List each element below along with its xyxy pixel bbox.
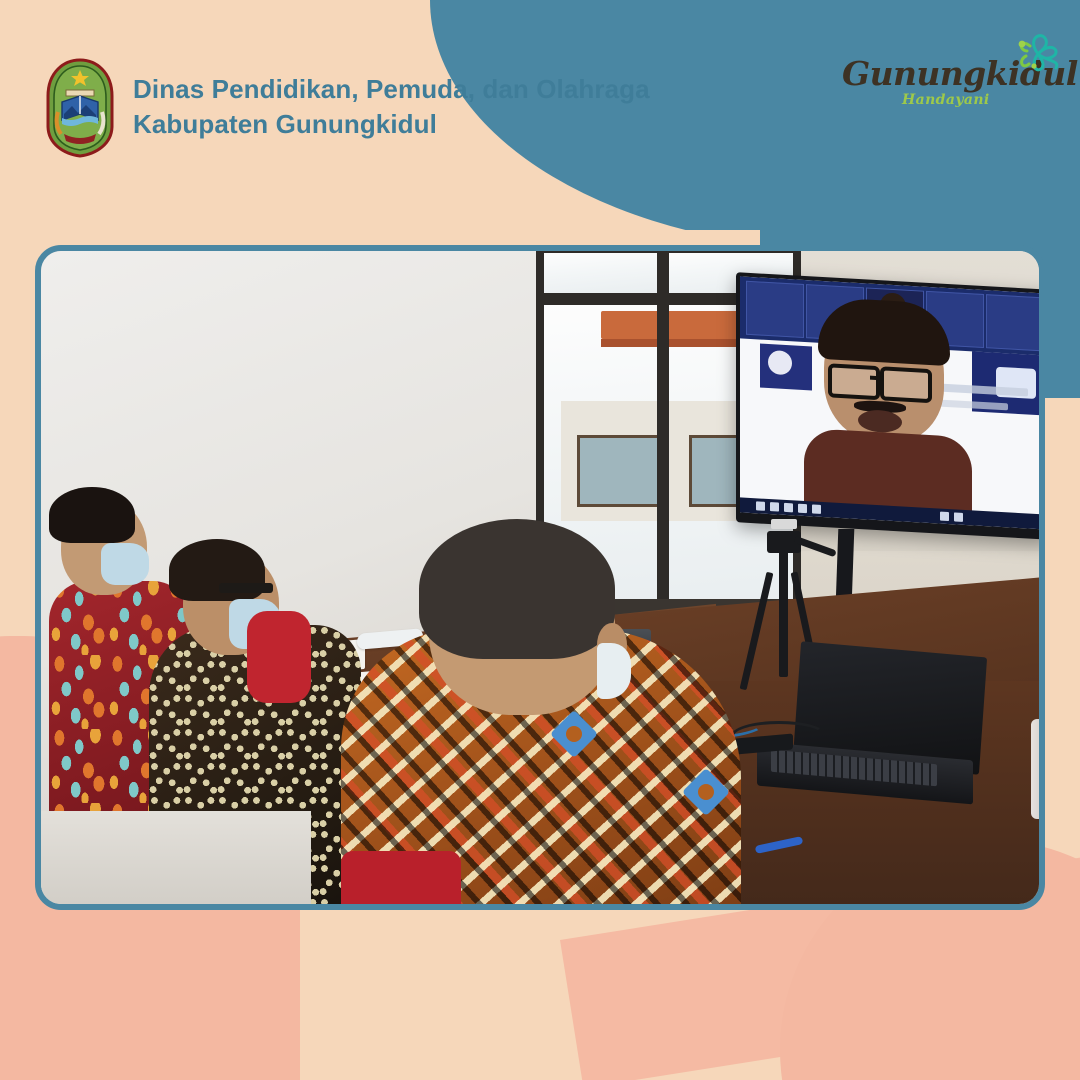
- hand-sanitizer-bottle: [1031, 719, 1039, 819]
- taskbar-icon: [770, 502, 779, 512]
- attendee-hair: [49, 487, 135, 543]
- attendee-face-mask: [101, 543, 149, 585]
- poster-header: Dinas Pendidikan, Pemuda, dan Olahraga K…: [0, 0, 700, 200]
- speaker-glasses-left: [828, 363, 880, 400]
- glasses-bridge: [870, 376, 884, 381]
- participant-thumbnail: [986, 294, 1039, 351]
- speaker-glasses-right: [880, 366, 932, 403]
- taskbar-icon: [954, 512, 963, 522]
- window-mullion-vertical: [657, 251, 669, 655]
- neighbor-building-window: [577, 435, 663, 507]
- chair: [247, 611, 311, 703]
- taskbar-icon: [798, 504, 807, 514]
- remote-speaker: [810, 302, 960, 515]
- participant-thumbnail: [746, 281, 804, 338]
- taskbar-icon: [812, 504, 821, 514]
- tripod-center-column: [779, 547, 788, 677]
- floor: [41, 811, 311, 904]
- regency-emblem-icon: [42, 56, 118, 160]
- gunungkidul-handayani-logo: Gunungkidul Handayani: [842, 38, 1062, 124]
- taskbar-icon: [756, 501, 765, 511]
- photo-scene: [41, 251, 1039, 904]
- poster-canvas: Dinas Pendidikan, Pemuda, dan Olahraga K…: [0, 0, 1080, 1080]
- chair: [341, 851, 461, 904]
- attendee-hair: [419, 519, 615, 659]
- camera-mount-plate: [771, 519, 797, 529]
- brand-tagline: Handayani: [902, 92, 990, 108]
- slide-logo: [768, 350, 792, 375]
- tv-screen: [740, 276, 1039, 529]
- attendee-glasses: [219, 583, 273, 593]
- window-pane-top-left: [544, 253, 659, 293]
- title-line-2: Kabupaten Gunungkidul: [133, 107, 653, 142]
- taskbar-icon: [940, 512, 949, 522]
- event-photo: [35, 245, 1045, 910]
- page-title: Dinas Pendidikan, Pemuda, dan Olahraga K…: [133, 72, 653, 141]
- social-footer: @dikpora_gk pendidikan.gunungkidulkab.go…: [0, 930, 1080, 1080]
- taskbar-icon: [784, 503, 793, 513]
- title-line-1: Dinas Pendidikan, Pemuda, dan Olahraga: [133, 74, 650, 104]
- wall-mounted-tv: [736, 272, 1039, 540]
- butterfly-icon: [1008, 24, 1066, 78]
